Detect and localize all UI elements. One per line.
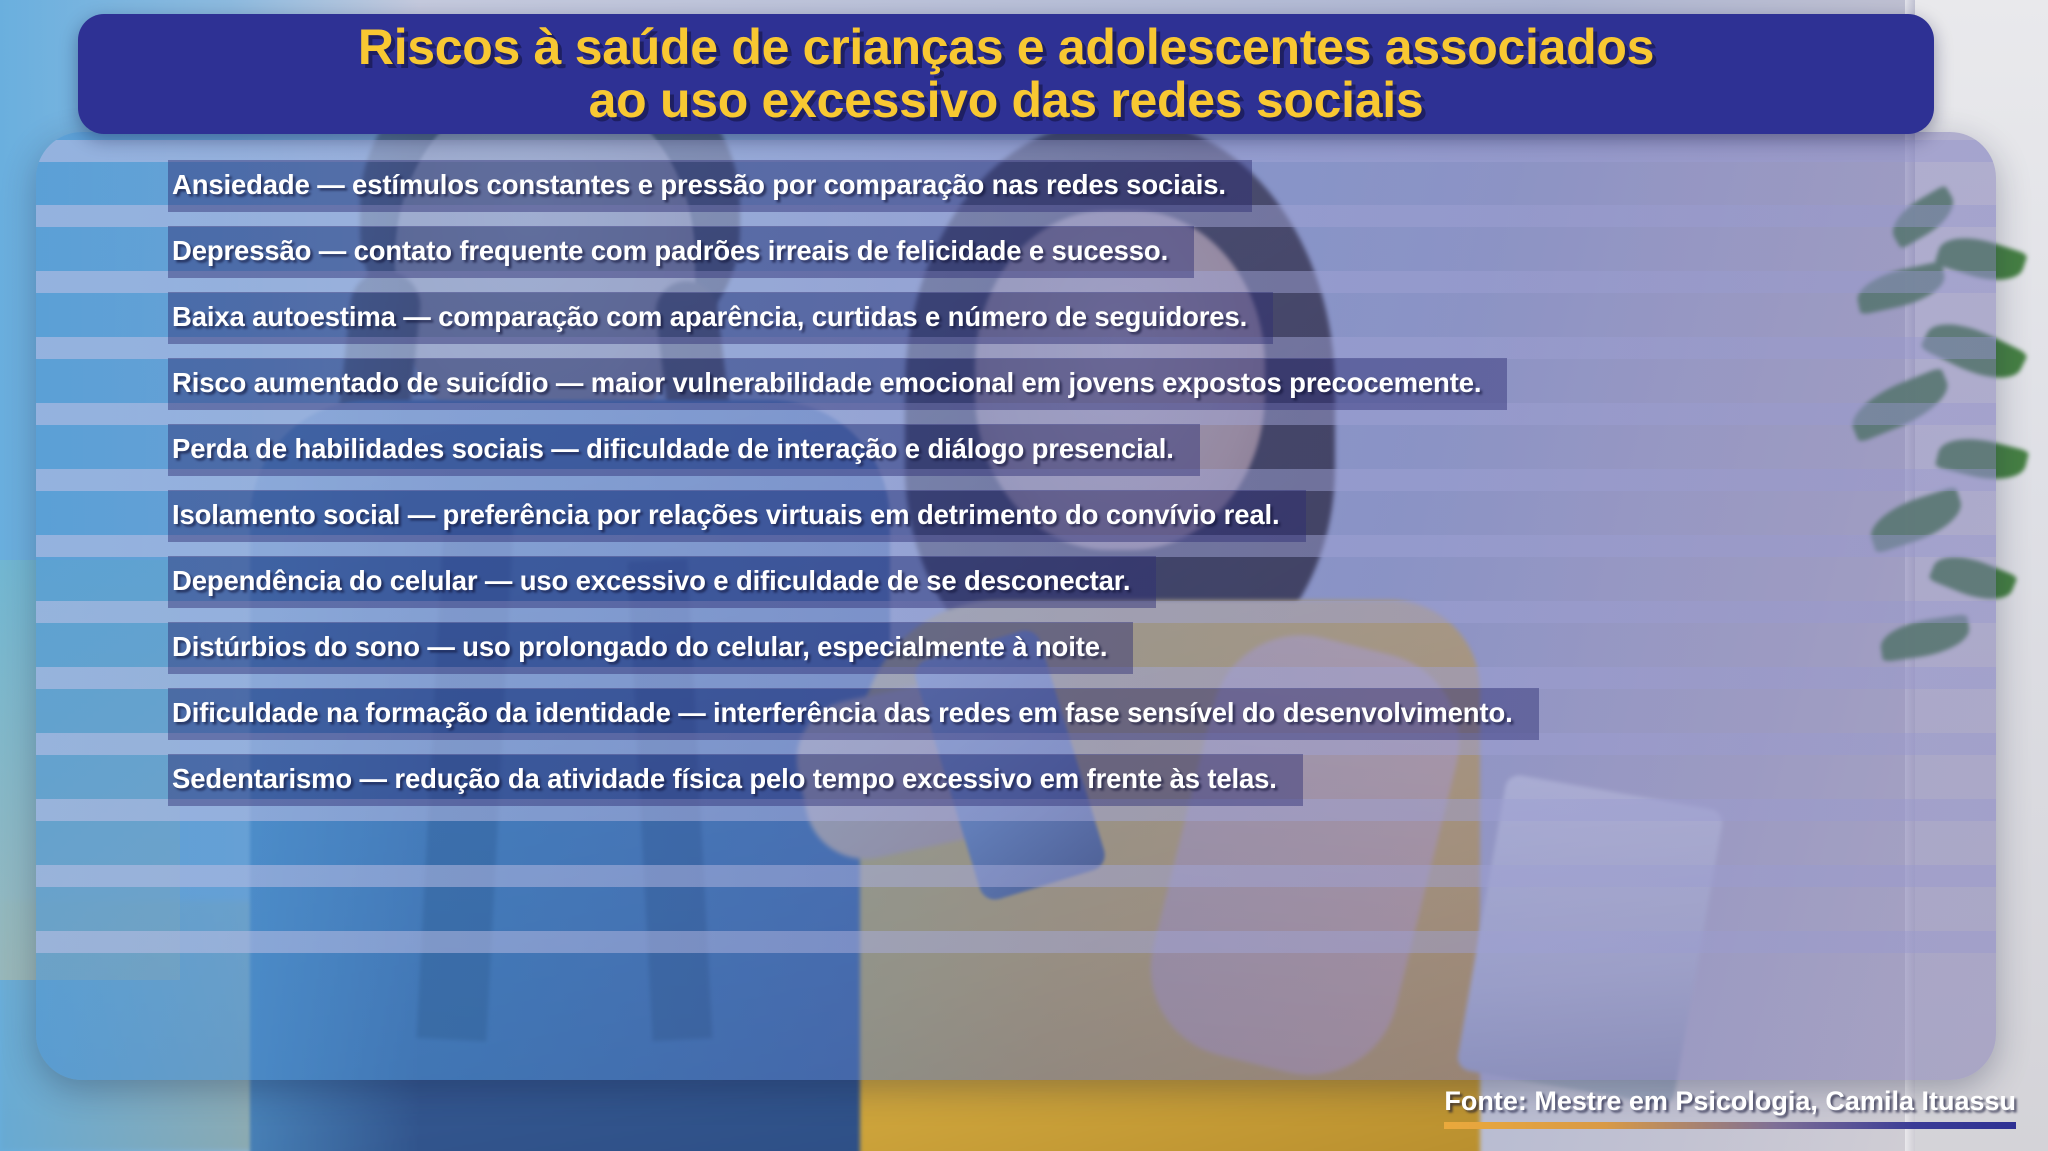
- risk-label: Ansiedade — estímulos constantes e press…: [168, 160, 1252, 212]
- risk-label: Depressão — contato frequente com padrõe…: [168, 226, 1194, 278]
- risk-label: Dificuldade na formação da identidade — …: [168, 688, 1539, 740]
- risk-label: Dependência do celular — uso excessivo e…: [168, 556, 1156, 608]
- list-item[interactable]: Dependência do celular — uso excessivo e…: [0, 550, 2048, 614]
- list-item[interactable]: Distúrbios do sono — uso prolongado do c…: [0, 616, 2048, 680]
- list-item[interactable]: Depressão — contato frequente com padrõe…: [0, 220, 2048, 284]
- risk-label: Sedentarismo — redução da atividade físi…: [168, 754, 1303, 806]
- title-banner: Riscos à saúde de crianças e adolescente…: [78, 14, 1934, 134]
- infographic-canvas: Riscos à saúde de crianças e adolescente…: [0, 0, 2048, 1151]
- source-text: Fonte: Mestre em Psicologia, Camila Itua…: [1444, 1086, 2016, 1117]
- list-item[interactable]: Dificuldade na formação da identidade — …: [0, 682, 2048, 746]
- risk-label: Perda de habilidades sociais — dificulda…: [168, 424, 1200, 476]
- risk-label: Distúrbios do sono — uso prolongado do c…: [168, 622, 1133, 674]
- list-item[interactable]: Sedentarismo — redução da atividade físi…: [0, 748, 2048, 812]
- source-underline: [1444, 1122, 2016, 1129]
- risk-list: Ansiedade — estímulos constantes e press…: [0, 132, 2048, 1080]
- list-item[interactable]: Perda de habilidades sociais — dificulda…: [0, 418, 2048, 482]
- source-attribution: Fonte: Mestre em Psicologia, Camila Itua…: [1444, 1086, 2016, 1129]
- risk-label: Isolamento social — preferência por rela…: [168, 490, 1306, 542]
- list-item[interactable]: Risco aumentado de suicídio — maior vuln…: [0, 352, 2048, 416]
- risk-label: Risco aumentado de suicídio — maior vuln…: [168, 358, 1507, 410]
- list-item[interactable]: Baixa autoestima — comparação com aparên…: [0, 286, 2048, 350]
- risk-label: Baixa autoestima — comparação com aparên…: [168, 292, 1273, 344]
- list-item[interactable]: Ansiedade — estímulos constantes e press…: [0, 154, 2048, 218]
- list-item[interactable]: Isolamento social — preferência por rela…: [0, 484, 2048, 548]
- page-title: Riscos à saúde de crianças e adolescente…: [334, 21, 1678, 127]
